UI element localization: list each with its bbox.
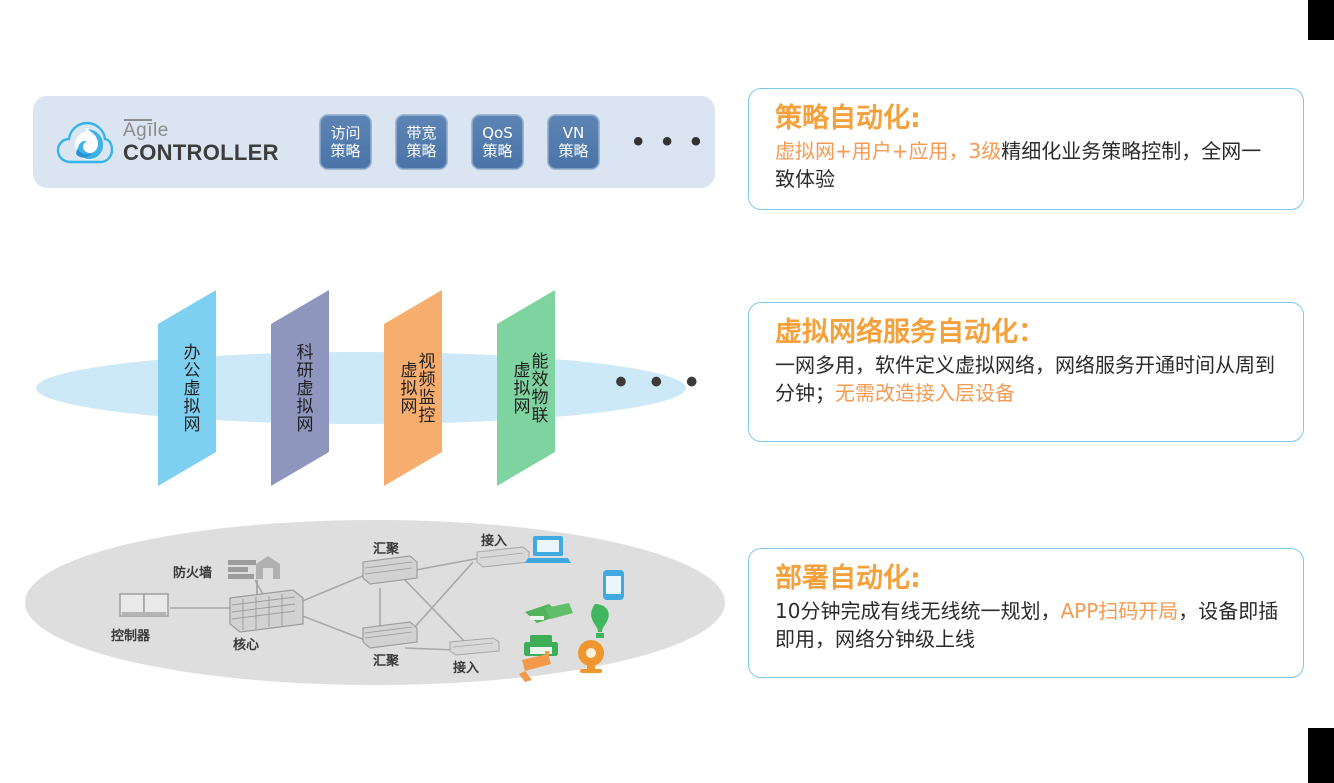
laptop-icon (525, 536, 571, 563)
topology-links (170, 558, 480, 650)
agile-controller-logo: Agīle CONTROLLER (55, 118, 305, 166)
access-top-icon (477, 547, 529, 567)
scanner-icon (525, 603, 573, 623)
network-backbone-ellipse (36, 352, 686, 424)
firewall-icon (228, 556, 280, 596)
card-body-normal-1: 10分钟完成有线无线统一规划， (775, 599, 1060, 623)
label-controller: 控制器 (111, 625, 150, 644)
chip-line-2: 策略 (330, 142, 360, 160)
card-policy-automation: 策略自动化: 虚拟网+用户+应用，3级精细化业务策略控制，全网一致体验 (748, 88, 1304, 210)
cloud-swirl-icon (55, 118, 113, 166)
tablet-icon (603, 570, 624, 600)
chip-line-1: QoS (482, 124, 513, 142)
card-title: 策略自动化: (775, 103, 1281, 134)
vn-panel-research: 科研虚拟网 (271, 290, 333, 486)
aggregation-top-icon (363, 556, 417, 584)
policy-chip-group: 访问 策略 带宽 策略 QoS 策略 VN 策略 • • • (319, 114, 706, 170)
core-switch-icon (230, 590, 303, 632)
policy-chip-access[interactable]: 访问 策略 (319, 114, 372, 170)
virtual-network-diagram: 办公虚拟网 科研虚拟网 视频监控 虚拟网 能效物 (20, 290, 720, 500)
slide-canvas: Agīle CONTROLLER 访问 策略 带宽 策略 QoS 策略 VN 策… (0, 0, 1334, 783)
policy-chip-more-ellipsis[interactable]: • • • (633, 136, 706, 148)
label-aggregation-bottom: 汇聚 (373, 650, 399, 669)
policy-chip-qos[interactable]: QoS 策略 (471, 114, 524, 170)
top-right-black-bar (1308, 0, 1334, 40)
card-body-highlight: APP扫码开局 (1060, 599, 1178, 623)
webcam-icon (578, 640, 604, 673)
printer-icon (524, 635, 558, 656)
card-body-highlight: 虚拟网+用户+应用，3级 (775, 139, 1001, 163)
label-access-top: 接入 (481, 530, 507, 549)
chip-line-1: VN (563, 124, 584, 142)
vn-more-ellipsis: • • • (615, 376, 705, 390)
vn-panel-video-monitor: 视频监控 虚拟网 (384, 290, 446, 486)
chip-line-2: 策略 (482, 142, 512, 160)
aggregation-bottom-icon (363, 622, 417, 648)
card-title: 虚拟网络服务自动化： (775, 317, 1281, 348)
access-bottom-icon (450, 638, 499, 655)
label-firewall: 防火墙 (173, 562, 212, 581)
label-access-bottom: 接入 (453, 657, 479, 676)
card-virtual-network-service-automation: 虚拟网络服务自动化： 一网多用，软件定义虚拟网络，网络服务开通时间从周到分钟；无… (748, 302, 1304, 442)
chip-line-2: 策略 (558, 142, 588, 160)
vn-panel-energy-iot: 能效物联 虚拟网 (497, 290, 559, 486)
card-body: 10分钟完成有线无线统一规划，APP扫码开局，设备即插即用，网络分钟级上线 (775, 597, 1281, 654)
label-aggregation-top: 汇聚 (373, 538, 399, 557)
label-core: 核心 (233, 634, 259, 653)
card-body-highlight: 无需改造接入层设备 (835, 381, 1015, 405)
card-deployment-automation: 部署自动化: 10分钟完成有线无线统一规划，APP扫码开局，设备即插即用，网络分… (748, 548, 1304, 678)
vn-panel-office: 办公虚拟网 (158, 290, 220, 486)
policy-chip-vn[interactable]: VN 策略 (547, 114, 600, 170)
logo-agile-word: Agīle (123, 121, 279, 140)
card-body: 一网多用，软件定义虚拟网络，网络服务开通时间从周到分钟；无需改造接入层设备 (775, 351, 1281, 408)
bottom-right-black-bar (1308, 728, 1334, 783)
lamp-icon (591, 604, 609, 638)
card-title: 部署自动化: (775, 563, 1281, 594)
chip-line-2: 策略 (406, 142, 436, 160)
chip-line-1: 带宽 (406, 124, 436, 142)
chip-line-1: 访问 (330, 124, 360, 142)
card-body: 虚拟网+用户+应用，3级精细化业务策略控制，全网一致体验 (775, 137, 1281, 194)
network-topology-diagram: 控制器 防火墙 核心 汇聚 汇聚 接入 接入 (25, 520, 725, 695)
controller-node-icon (120, 594, 168, 616)
agile-controller-bar: Agīle CONTROLLER 访问 策略 带宽 策略 QoS 策略 VN 策… (33, 96, 715, 188)
policy-chip-bandwidth[interactable]: 带宽 策略 (395, 114, 448, 170)
logo-controller-word: CONTROLLER (123, 142, 279, 164)
